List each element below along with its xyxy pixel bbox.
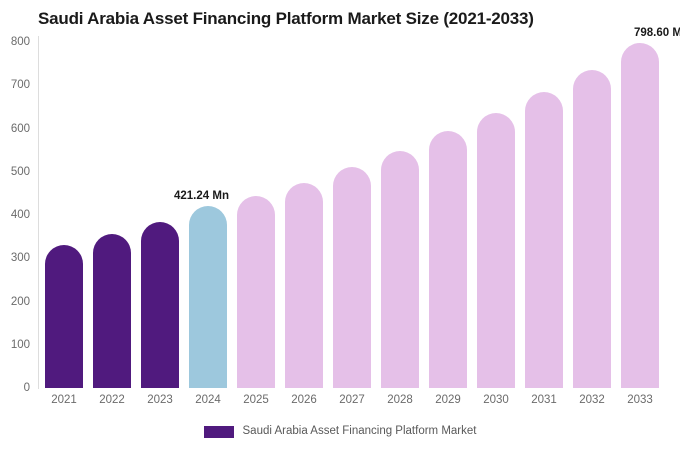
bar-slot — [525, 0, 563, 388]
bar-2030[interactable] — [477, 113, 515, 388]
x-axis-tick-label: 2031 — [520, 394, 568, 407]
bar-2033[interactable] — [621, 43, 659, 388]
bar-2027[interactable] — [333, 167, 371, 388]
x-axis-tick-label: 2023 — [136, 394, 184, 407]
bar-2031[interactable] — [525, 92, 563, 388]
bar-2024[interactable] — [189, 206, 227, 388]
bar-chart: Saudi Arabia Asset Financing Platform Ma… — [0, 0, 680, 450]
bar-slot — [93, 0, 131, 388]
x-axis-tick-label: 2027 — [328, 394, 376, 407]
bar-2032[interactable] — [573, 70, 611, 388]
bar-2025[interactable] — [237, 196, 275, 388]
x-axis-tick-label: 2025 — [232, 394, 280, 407]
bar-2021[interactable] — [45, 245, 83, 388]
bar-slot — [285, 0, 323, 388]
bar-slot — [573, 0, 611, 388]
bar-slot — [429, 0, 467, 388]
x-axis-tick-label: 2026 — [280, 394, 328, 407]
x-axis-tick-label: 2021 — [40, 394, 88, 407]
legend-item-label: Saudi Arabia Asset Financing Platform Ma… — [243, 425, 477, 438]
bar-slot — [381, 0, 419, 388]
bar-2023[interactable] — [141, 222, 179, 388]
x-axis-tick-label: 2033 — [616, 394, 664, 407]
bar-2028[interactable] — [381, 151, 419, 388]
bar-slot — [621, 0, 659, 388]
legend-color-swatch — [204, 426, 234, 438]
chart-legend: Saudi Arabia Asset Financing Platform Ma… — [0, 425, 680, 438]
bar-slot — [237, 0, 275, 388]
x-axis-tick-label: 2032 — [568, 394, 616, 407]
bar-slot — [477, 0, 515, 388]
x-axis-tick-label: 2029 — [424, 394, 472, 407]
bar-2029[interactable] — [429, 131, 467, 388]
bar-2022[interactable] — [93, 234, 131, 388]
bar-2026[interactable] — [285, 183, 323, 388]
bar-slot — [333, 0, 371, 388]
data-label-2024: 421.24 Mn — [174, 190, 229, 203]
legend-item-saudi-arabia-asset-financing-platform-market[interactable]: Saudi Arabia Asset Financing Platform Ma… — [204, 425, 477, 438]
x-axis-tick-label: 2024 — [184, 394, 232, 407]
x-axis-tick-label: 2030 — [472, 394, 520, 407]
x-axis-tick-label: 2022 — [88, 394, 136, 407]
data-label-2033: 798.60 Mn — [634, 27, 680, 40]
bar-slot — [45, 0, 83, 388]
x-axis-tick-label: 2028 — [376, 394, 424, 407]
plot-area — [0, 0, 680, 388]
